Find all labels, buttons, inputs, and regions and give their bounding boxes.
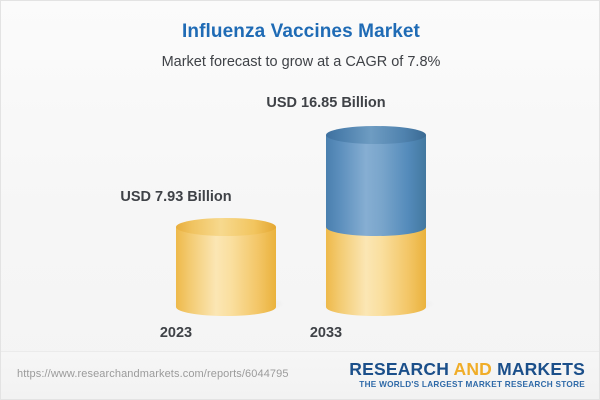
brand-logo[interactable]: RESEARCH AND MARKETS THE WORLD'S LARGEST… — [349, 360, 585, 389]
source-url-link[interactable]: https://www.researchandmarkets.com/repor… — [17, 368, 289, 380]
bar-value-label-2023: USD 7.93 Billion — [120, 189, 231, 205]
brand-wordmark: RESEARCH AND MARKETS — [349, 360, 585, 378]
bar-cylinder-2033[interactable] — [326, 135, 426, 307]
bar-segment-growth-2033 — [326, 135, 426, 227]
cylinder-top-cap — [176, 218, 276, 236]
bar-cylinder-2023[interactable] — [176, 227, 276, 307]
category-label-2023: 2023 — [160, 325, 192, 341]
brand-word-and: AND — [449, 359, 497, 379]
brand-word-markets: MARKETS — [497, 359, 585, 379]
brand-word-research: RESEARCH — [349, 359, 449, 379]
cylinder-top-cap — [326, 126, 426, 144]
bar-segment-base-2023 — [176, 227, 276, 307]
cylinder-body — [326, 227, 426, 307]
cylinder-body — [326, 135, 426, 227]
bar-value-label-2033: USD 16.85 Billion — [266, 95, 385, 111]
category-label-2033: 2033 — [310, 325, 342, 341]
brand-tagline: THE WORLD'S LARGEST MARKET RESEARCH STOR… — [349, 378, 585, 389]
footer: https://www.researchandmarkets.com/repor… — [1, 351, 600, 399]
infographic-card: Influenza Vaccines Market Market forecas… — [0, 0, 600, 400]
cylinder-body — [176, 227, 276, 307]
chart-plot-area: USD 7.93 Billion 2023 USD 16.85 Billion — [1, 1, 600, 353]
bar-segment-base-2033 — [326, 227, 426, 307]
